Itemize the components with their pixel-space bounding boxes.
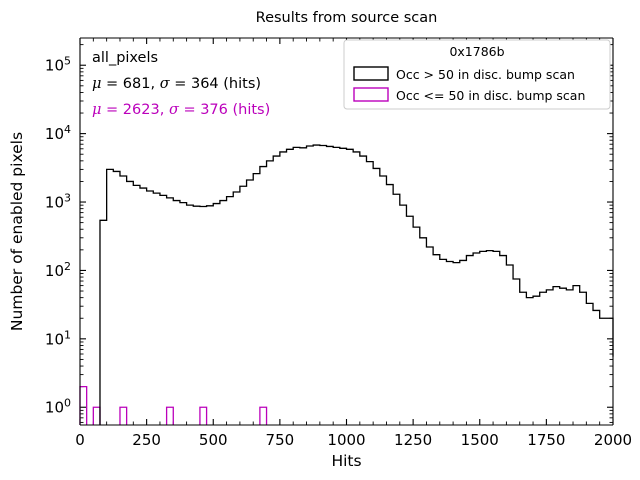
x-axis-tick-label: 1250	[394, 431, 432, 449]
page-title: Results from source scan	[256, 10, 438, 26]
figure-container: 1001011021031041050250500750100012501500…	[0, 0, 640, 480]
y-axis-tick-label: 103	[45, 191, 71, 212]
x-axis-tick-label: 1750	[527, 431, 565, 449]
x-axis-tick-label: 750	[266, 431, 295, 449]
x-axis-tick-label: 250	[132, 431, 161, 449]
legend-entry-label: Occ <= 50 in disc. bump scan	[396, 88, 585, 103]
x-axis-tick-label: 1500	[461, 431, 499, 449]
y-axis-tick-label: 102	[45, 259, 71, 280]
y-axis-tick-label: 105	[45, 54, 71, 75]
histogram-series	[80, 387, 267, 425]
x-axis-tick-label: 1000	[327, 431, 365, 449]
x-axis-tick-label: 500	[199, 431, 228, 449]
x-axis-label: Hits	[331, 452, 361, 470]
legend-title: 0x1786b	[449, 44, 504, 59]
annotation-mu-sigma-magenta: μ = 2623, σ = 376 (hits)	[92, 102, 270, 118]
y-axis-tick-label: 101	[45, 328, 71, 349]
y-axis-label: Number of enabled pixels	[8, 132, 26, 331]
x-axis-tick-label: 2000	[594, 431, 632, 449]
x-axis-tick-label: 0	[75, 431, 85, 449]
legend-entry-label: Occ > 50 in disc. bump scan	[396, 67, 575, 82]
histogram-series	[100, 145, 613, 425]
annotation-mu-sigma-black: μ = 681, σ = 364 (hits)	[92, 76, 261, 92]
histogram-plot: 1001011021031041050250500750100012501500…	[0, 0, 640, 480]
y-axis-tick-label: 100	[45, 396, 71, 417]
annotation-label: all_pixels	[92, 50, 158, 66]
y-axis-tick-label: 104	[45, 123, 71, 144]
